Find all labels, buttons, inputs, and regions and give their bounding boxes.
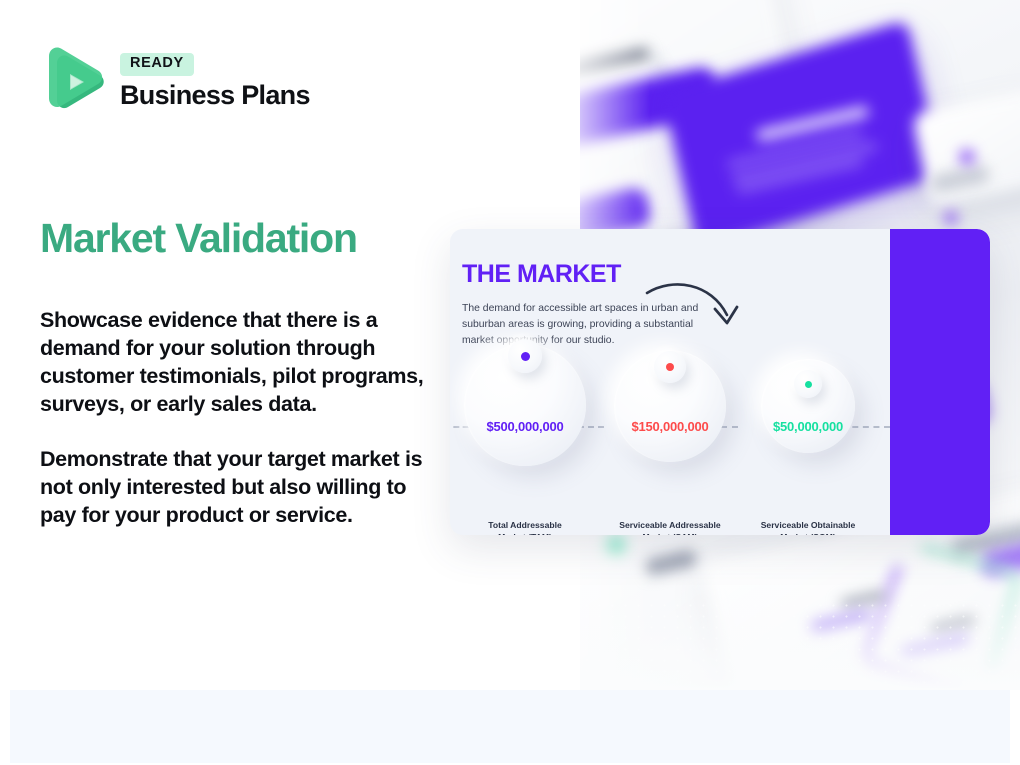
metric-som: $50,000,000 Serviceable Obtainable Marke…	[738, 344, 878, 453]
som-label: Serviceable Obtainable Market (SOM)	[738, 519, 878, 535]
metric-tam: $500,000,000 Total Addressable Market (T…	[455, 344, 595, 466]
slide-canvas: READY Business Plans Market Validation S…	[0, 0, 1020, 765]
som-label-line-2: Market (SOM)	[780, 532, 835, 535]
som-knob	[794, 370, 822, 398]
background-slide-right	[912, 88, 1020, 208]
footer-band	[0, 690, 1020, 765]
body-paragraph-2: Demonstrate that your target market is n…	[40, 445, 425, 529]
footer-band-inner	[10, 690, 1010, 763]
sam-value: $150,000,000	[600, 419, 740, 434]
tam-label-line-2: Market (TAM)	[498, 532, 552, 535]
brand-name: Business Plans	[120, 81, 310, 109]
body-paragraph-1: Showcase evidence that there is a demand…	[40, 306, 425, 419]
sam-knob	[654, 351, 686, 383]
brand-text-block: READY Business Plans	[120, 53, 310, 109]
market-metrics-row: $500,000,000 Total Addressable Market (T…	[450, 344, 990, 534]
metric-sam: $150,000,000 Serviceable Addressable Mar…	[600, 344, 740, 462]
som-value: $50,000,000	[738, 419, 878, 434]
background-purple-dot-2	[945, 212, 957, 224]
body-copy: Showcase evidence that there is a demand…	[40, 306, 425, 529]
tam-value: $500,000,000	[455, 419, 595, 434]
som-orb	[761, 359, 855, 453]
background-purple-dot	[960, 150, 974, 164]
sam-orb	[614, 350, 726, 462]
page-title: Market Validation	[40, 216, 460, 261]
market-slide-card: THE MARKET The demand for accessible art…	[450, 229, 990, 535]
curved-down-arrow-icon	[645, 279, 750, 339]
brand-lockup: READY Business Plans	[40, 42, 310, 120]
tam-indicator-dot	[521, 352, 530, 361]
card-title: THE MARKET	[462, 260, 621, 289]
tam-orb	[464, 344, 586, 466]
play-triangle-logo-icon	[40, 42, 106, 120]
tam-label-line-1: Total Addressable	[488, 520, 562, 530]
sam-label-line-1: Serviceable Addressable	[619, 520, 720, 530]
som-indicator-dot	[805, 381, 812, 388]
sam-label-line-2: Market (SAM)	[643, 532, 698, 535]
tam-knob	[508, 339, 542, 373]
sam-indicator-dot	[666, 363, 674, 371]
som-label-line-1: Serviceable Obtainable	[761, 520, 856, 530]
background-bottom-fade	[580, 540, 1020, 690]
tam-label: Total Addressable Market (TAM)	[455, 519, 595, 535]
sam-label: Serviceable Addressable Market (SAM)	[600, 519, 740, 535]
ready-badge: READY	[120, 53, 194, 76]
